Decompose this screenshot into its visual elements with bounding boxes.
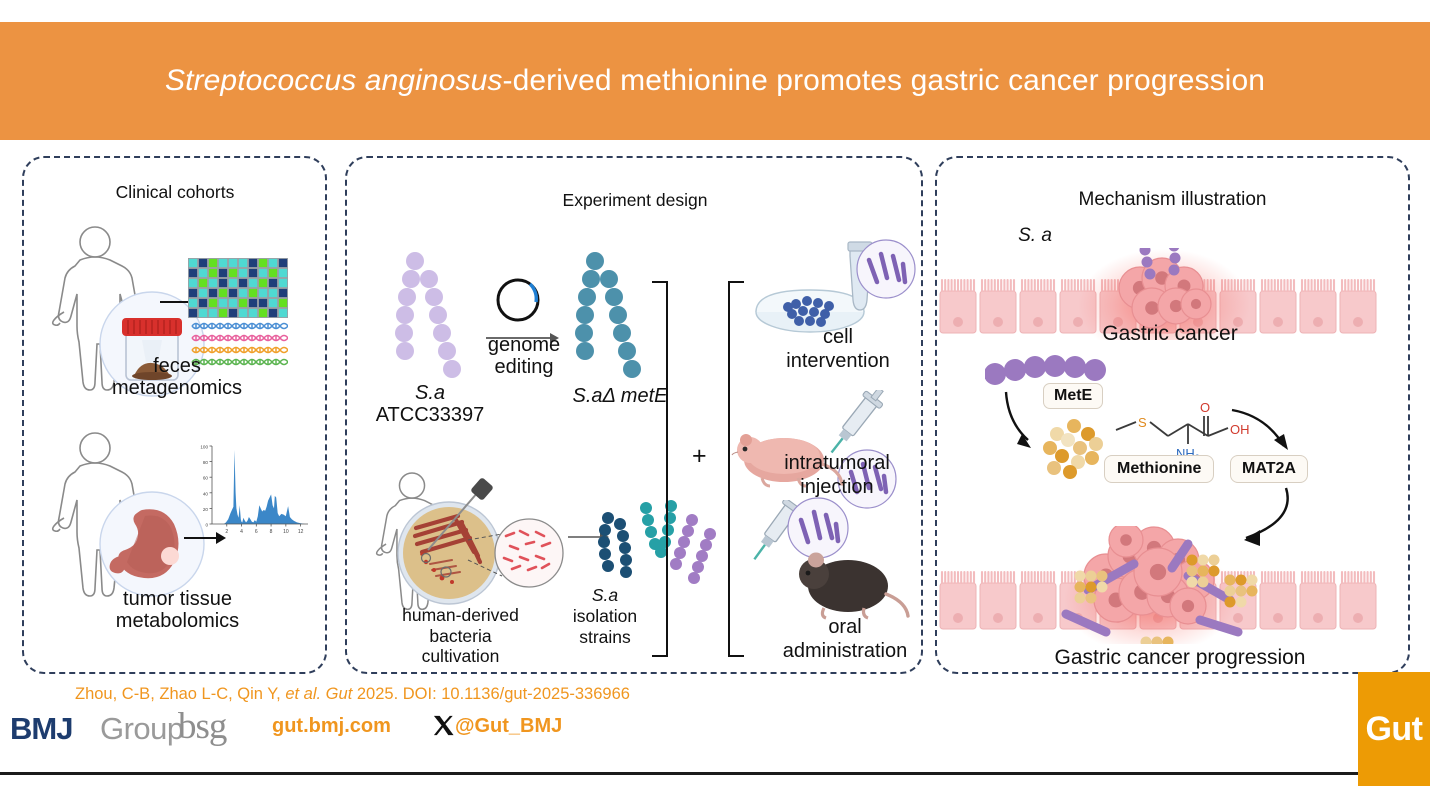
isolation-strains-label: S.a isolation strains bbox=[545, 585, 665, 648]
svg-text:12: 12 bbox=[298, 529, 304, 535]
arrow-curved-to-mat2a-icon bbox=[1228, 406, 1308, 462]
footer-divider bbox=[0, 772, 1430, 775]
svg-text:8: 8 bbox=[270, 529, 273, 535]
bacteria-chain-teal-icon bbox=[572, 252, 658, 384]
website-link[interactable]: gut.bmj.com bbox=[272, 715, 391, 738]
genome-editing-label: genome editing bbox=[462, 334, 586, 379]
metabolomics-spectrum-chart: 02040608010024681012 bbox=[188, 438, 312, 546]
feces-label: feces metagenomics bbox=[62, 355, 292, 400]
panel-mid-title: Experiment design bbox=[545, 190, 725, 211]
svg-text:2: 2 bbox=[225, 529, 228, 535]
cell-intervention-label: cell intervention bbox=[752, 326, 924, 373]
gastric-cancer-caption: Gastric cancer bbox=[1020, 322, 1320, 346]
citation: Zhou, C-B, Zhao L-C, Qin Y, et al. Gut 2… bbox=[75, 685, 630, 704]
svg-text:20: 20 bbox=[203, 507, 209, 512]
plus-sign: + bbox=[692, 442, 707, 471]
bacteria-chain-mechanism-icon bbox=[985, 352, 1109, 386]
bmj-group-label: Group bbox=[100, 711, 184, 747]
atom-sulfur: S bbox=[1138, 415, 1147, 430]
metagenomics-heatmap bbox=[188, 258, 288, 318]
header-banner: Streptococcus anginosus-derived methioni… bbox=[0, 22, 1430, 140]
black-mouse-icon bbox=[786, 542, 912, 620]
enzyme-badge-mete: MetE bbox=[1043, 383, 1103, 409]
svg-text:40: 40 bbox=[203, 491, 209, 496]
epithelium-tumor-bottom bbox=[938, 526, 1406, 644]
plasmid-circle-icon bbox=[490, 272, 546, 328]
oral-administration-label: oral administration bbox=[738, 616, 952, 663]
svg-text:80: 80 bbox=[203, 460, 209, 465]
cultivation-label: human-derived bacteria cultivation bbox=[358, 605, 563, 667]
page-title: Streptococcus anginosus-derived methioni… bbox=[165, 64, 1265, 98]
atom-oxygen: O bbox=[1200, 400, 1210, 415]
x-handle-link[interactable]: @Gut_BMJ bbox=[455, 715, 562, 738]
bsg-logo: bsg bbox=[178, 705, 226, 748]
panel-left-title: Clinical cohorts bbox=[100, 182, 250, 203]
svg-text:60: 60 bbox=[203, 476, 209, 481]
gut-journal-logo: Gut bbox=[1358, 672, 1430, 786]
title-rest: -derived methionine promotes gastric can… bbox=[502, 64, 1265, 97]
gastric-cancer-progression-caption: Gastric cancer progression bbox=[990, 646, 1370, 670]
group-bracket-close bbox=[652, 281, 668, 657]
strain-mutant-label: S.aΔ metE bbox=[540, 385, 700, 407]
svg-text:10: 10 bbox=[283, 529, 289, 535]
zoom-connector-lines bbox=[466, 528, 506, 588]
bacteria-label-sa: S. a bbox=[1000, 225, 1070, 246]
panel-right-title: Mechanism illustration bbox=[1010, 189, 1335, 211]
intratumoral-injection-label: intratumoral injection bbox=[742, 452, 932, 499]
title-species: Streptococcus anginosus bbox=[165, 64, 503, 97]
svg-text:0: 0 bbox=[205, 523, 208, 528]
bacteria-bubble-icon-1 bbox=[855, 238, 917, 300]
metabolite-badge-methionine: Methionine bbox=[1104, 455, 1214, 483]
graphical-abstract-page: Streptococcus anginosus-derived methioni… bbox=[0, 0, 1430, 786]
tumor-tissue-label: tumor tissue metabolomics bbox=[55, 588, 300, 633]
strain-source-label: S.a ATCC33397 bbox=[370, 382, 490, 427]
svg-text:4: 4 bbox=[240, 529, 243, 535]
bmj-logo: BMJ bbox=[10, 711, 72, 747]
svg-text:100: 100 bbox=[200, 445, 208, 450]
x-twitter-icon[interactable] bbox=[432, 714, 455, 737]
svg-text:6: 6 bbox=[255, 529, 258, 535]
